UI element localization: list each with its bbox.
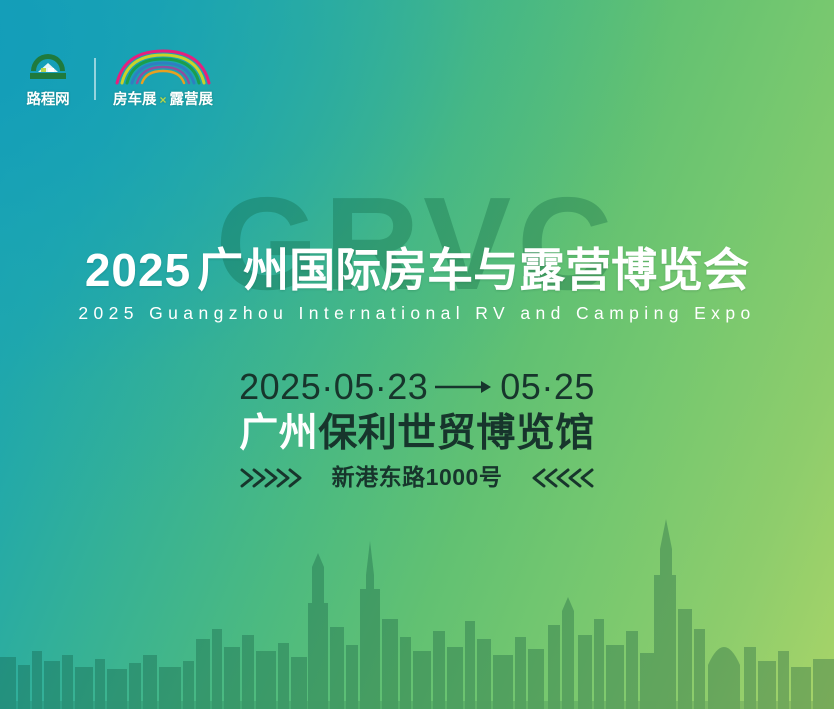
logo-bar: 路程网 房车展 × 露营展: [20, 50, 215, 108]
event-venue-city: 广州: [239, 412, 318, 455]
main-title-chinese: 广州国际房车与露营博览会: [197, 244, 749, 296]
event-venue-name: 保利世贸博览馆: [318, 412, 595, 455]
brand-logo-expo[interactable]: 房车展 × 露营展: [111, 51, 215, 107]
expo-label-part-two: 露营展: [170, 93, 214, 108]
event-address-line: 新港东路1000号: [0, 465, 834, 491]
event-date-end: 05·25: [500, 368, 595, 406]
main-title-english: 2025 Guangzhou International RV and Camp…: [0, 305, 834, 323]
event-info-block: 2025·05·23 05·25 广州保利世贸博览馆: [0, 368, 834, 491]
chevron-right-group-icon: [238, 465, 306, 491]
rainbow-arcs-icon: [111, 49, 215, 90]
title-block: 2025广州国际房车与露营博览会 2025 Guangzhou Internat…: [0, 246, 834, 322]
main-title: 2025广州国际房车与露营博览会: [0, 246, 834, 296]
expo-label-part-one: 房车展: [113, 93, 157, 108]
event-address-text: 新港东路1000号: [332, 466, 503, 489]
expo-label-separator: ×: [158, 94, 167, 106]
event-date-line: 2025·05·23 05·25: [0, 368, 834, 406]
brand-logo-expo-label: 房车展 × 露营展: [111, 93, 215, 108]
date-range-arrow-icon: [435, 377, 493, 397]
logo-divider: [94, 58, 96, 100]
brand-logo-lucheng-label: 路程网: [20, 93, 76, 108]
event-banner: 路程网 房车展 × 露营展: [0, 0, 834, 709]
city-skyline-illustration: [0, 479, 834, 709]
event-venue-line: 广州保利世贸博览馆: [0, 413, 834, 456]
event-date-start: 2025·05·23: [239, 368, 428, 406]
rv-tent-circle-icon: [24, 51, 72, 89]
brand-logo-lucheng[interactable]: 路程网: [20, 51, 76, 107]
main-title-year: 2025: [85, 244, 197, 296]
chevron-left-group-icon: [528, 465, 596, 491]
